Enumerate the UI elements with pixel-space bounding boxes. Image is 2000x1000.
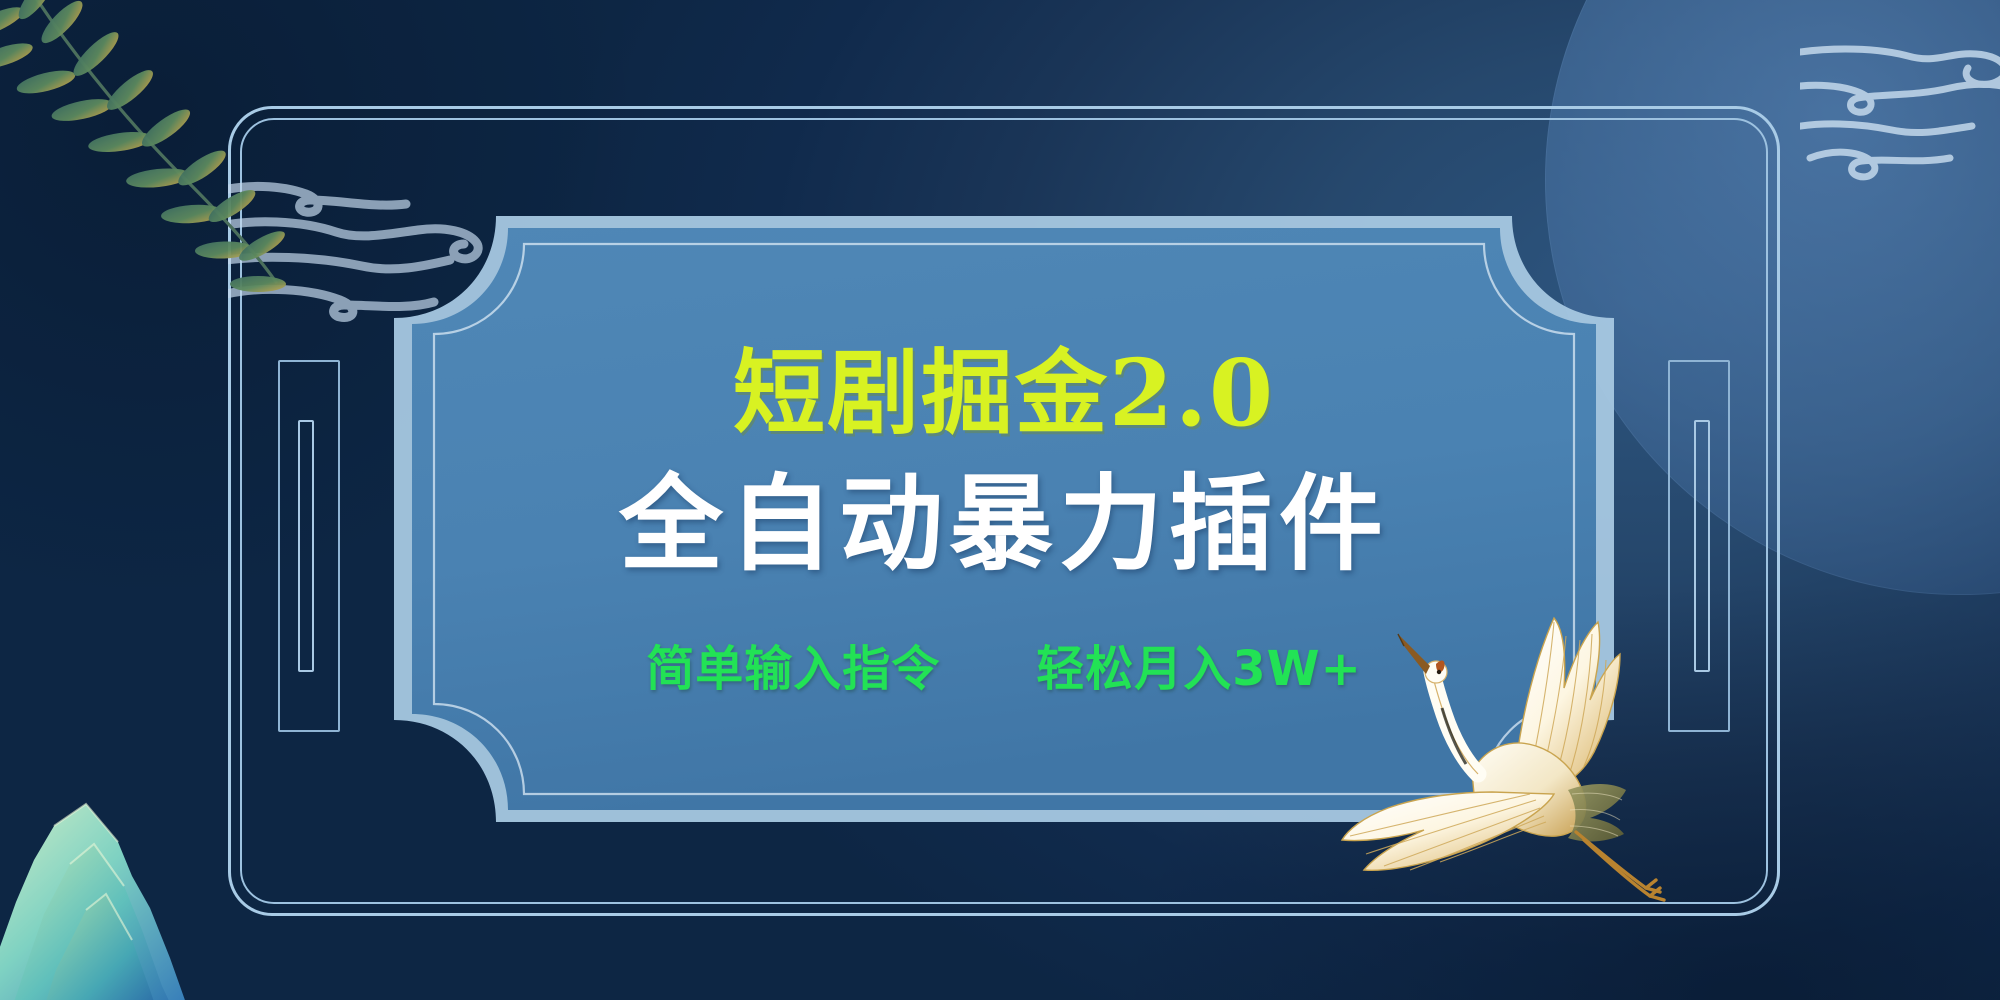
side-notch-bar-left-inner [298,420,314,672]
page-subtitle: 全自动暴力插件 [619,471,1389,577]
auspicious-cloud-icon [1800,30,2000,210]
page-title: 短剧掘金2.0 [733,345,1275,442]
layered-mountain-icon [0,790,312,1000]
willow-branch-icon [0,0,310,312]
tagline-secondary: 轻松月入3W+ [1036,629,1362,699]
flying-crane-icon [1340,596,1740,926]
tagline-row: 简单输入指令 轻松月入3W+ [646,629,1362,699]
tagline-primary: 简单输入指令 [646,629,940,699]
poster-canvas: 短剧掘金2.0 全自动暴力插件 简单输入指令 轻松月入3W+ [0,0,2000,1000]
